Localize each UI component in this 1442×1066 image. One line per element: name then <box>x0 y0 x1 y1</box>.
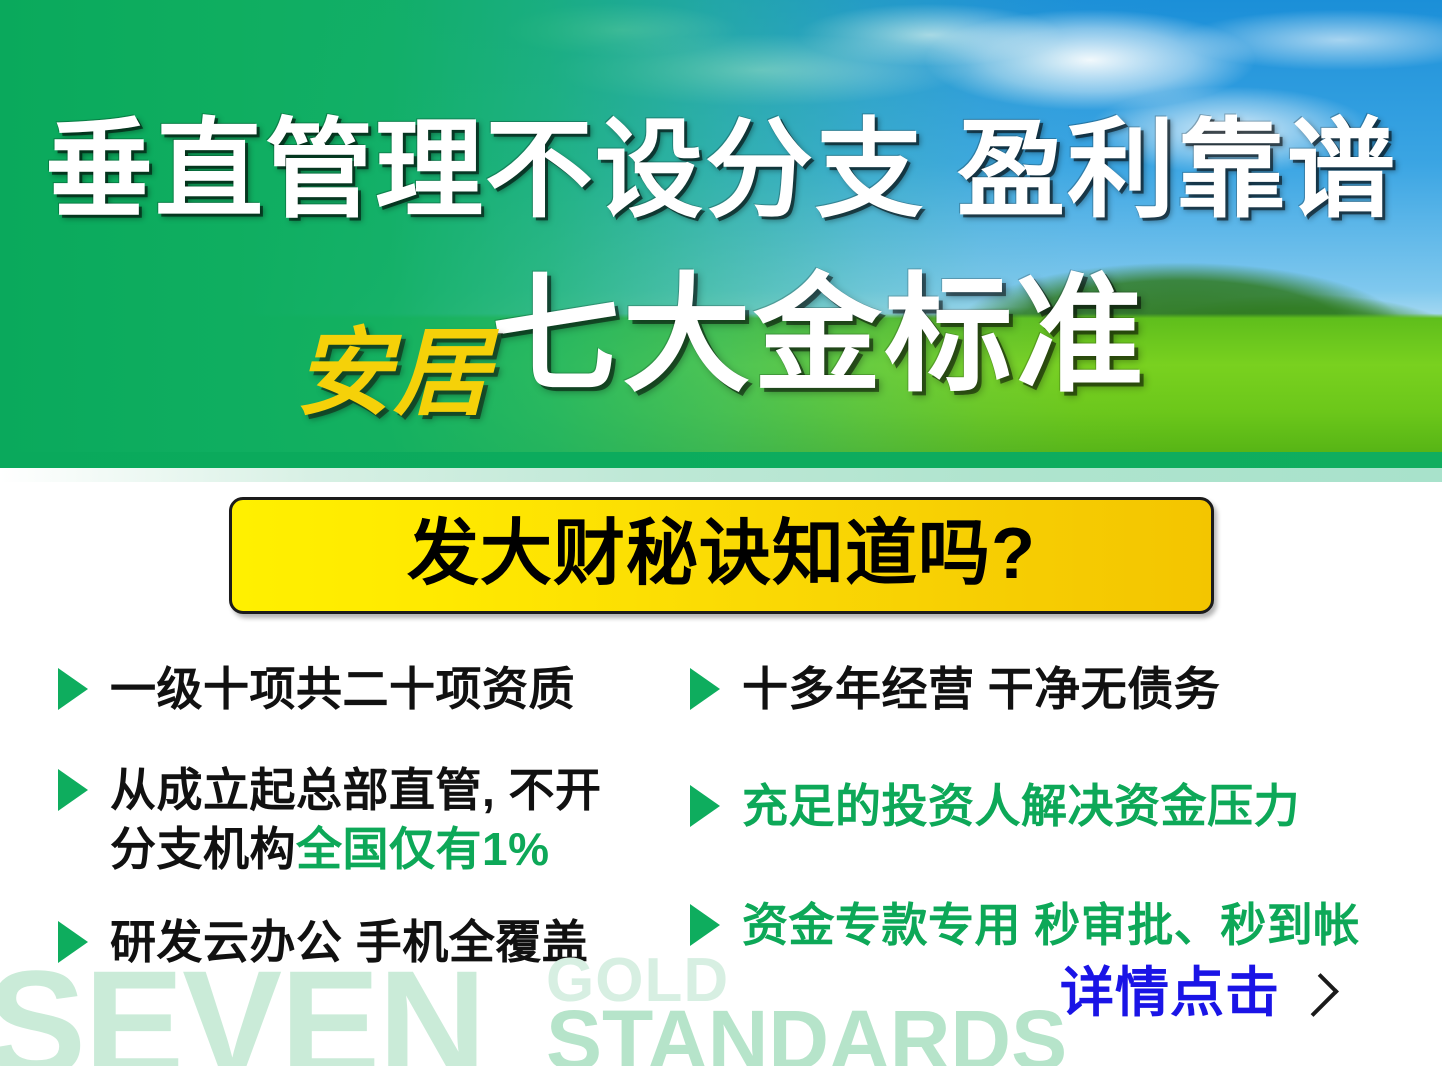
feature-column-left: 一级十项共二十项资质 从成立起总部直管, 不开 分支机构全国仅有1% 研发云办公… <box>58 660 698 1006</box>
feature-hq-direct-management-label: 从成立起总部直管, 不开 分支机构全国仅有1% <box>110 761 602 879</box>
feature-column-right: 十多年经营 干净无债务 充足的投资人解决资金压力 资金专款专用 秒审批、秒到帐 <box>690 660 1410 1015</box>
promo-question-banner[interactable]: 发大财秘诀知道吗? <box>229 497 1214 614</box>
triangle-right-icon <box>58 668 88 710</box>
feature-investor-capital-label: 充足的投资人解决资金压力 <box>742 777 1300 836</box>
list-item: 十多年经营 干净无债务 <box>690 660 1410 719</box>
feature-hq-direct-management-highlight: 全国仅有1% <box>296 823 549 875</box>
list-item: 资金专款专用 秒审批、秒到帐 <box>690 896 1410 955</box>
list-item: 从成立起总部直管, 不开 分支机构全国仅有1% <box>58 761 698 879</box>
list-item: 一级十项共二十项资质 <box>58 660 698 719</box>
feature-columns: 一级十项共二十项资质 从成立起总部直管, 不开 分支机构全国仅有1% 研发云办公… <box>0 660 1442 990</box>
list-item: 充足的投资人解决资金压力 <box>690 777 1410 836</box>
headline-secondary-brand: 安居 <box>295 326 491 422</box>
promo-question-text: 发大财秘诀知道吗? <box>407 518 1036 590</box>
chevron-right-icon <box>1302 971 1328 1015</box>
triangle-right-icon <box>58 921 88 963</box>
list-item: 研发云办公 手机全覆盖 <box>58 913 698 972</box>
triangle-right-icon <box>58 769 88 811</box>
headline-secondary-main: 七大金标准 <box>491 272 1146 400</box>
triangle-right-icon <box>690 668 720 710</box>
triangle-right-icon <box>690 904 720 946</box>
hero-fade-strip <box>0 468 1442 482</box>
feature-ten-years-operation-label: 十多年经营 干净无债务 <box>742 660 1220 719</box>
advertisement-page: 垂直管理不设分支 盈利靠谱 安居七大金标准 发大财秘诀知道吗? 一级十项共二十项… <box>0 0 1442 1066</box>
details-cta-link[interactable]: 详情点击 <box>1060 966 1328 1020</box>
headline-primary: 垂直管理不设分支 盈利靠谱 <box>0 112 1442 229</box>
hero-bottom-green-band <box>0 452 1442 468</box>
triangle-right-icon <box>690 785 720 827</box>
feature-dedicated-funds-label: 资金专款专用 秒审批、秒到帐 <box>742 896 1360 955</box>
details-cta-label: 详情点击 <box>1060 966 1280 1020</box>
feature-cloud-office-label: 研发云办公 手机全覆盖 <box>110 913 588 972</box>
feature-qualifications-label: 一级十项共二十项资质 <box>110 660 575 719</box>
headline-secondary: 安居七大金标准 <box>0 272 1442 400</box>
